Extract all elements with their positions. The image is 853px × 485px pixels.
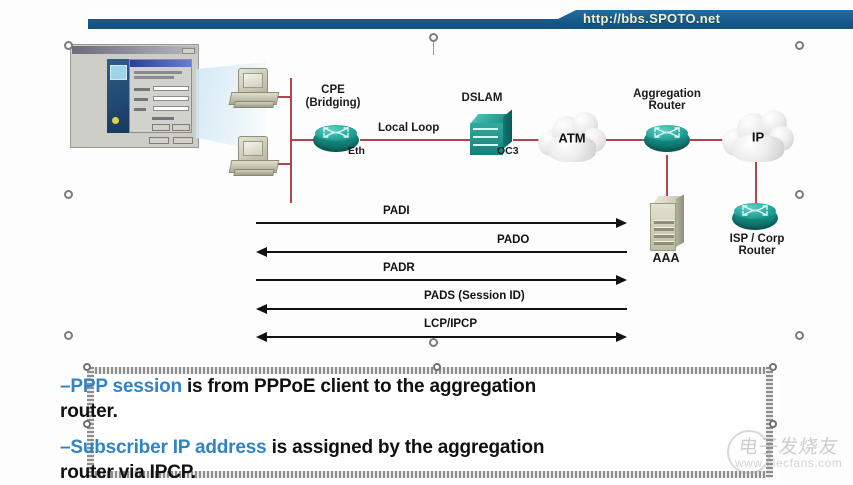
atm-label: ATM (538, 131, 606, 146)
agg-label-line2: Router (613, 100, 721, 113)
link-ip-isp (755, 160, 757, 205)
link-atm-agg (600, 139, 645, 141)
flow-label-pado: PADO (497, 234, 529, 246)
textbox-handle-tl[interactable] (83, 363, 91, 371)
note-bullet-2-line1: –Subscriber IP address is assigned by th… (60, 435, 544, 460)
pc-base-shadow (233, 169, 274, 176)
flow-line-padr (256, 279, 616, 281)
monitor-icon (238, 136, 268, 162)
textbox-handle-mr[interactable] (769, 420, 777, 428)
eth-label: Eth (348, 145, 365, 157)
dslam-label: DSLAM (432, 92, 532, 105)
selection-handle-mid-left[interactable] (64, 190, 73, 199)
dialup-dialog-screenshot (70, 44, 199, 148)
selection-handle-top-left[interactable] (64, 41, 73, 50)
dialog-side-graphic (107, 59, 129, 133)
link-local-loop (360, 139, 474, 141)
header-banner: http://bbs.SPOTO.net (88, 10, 853, 29)
connect-dialog (129, 59, 192, 133)
selection-handle-bottom-right[interactable] (795, 331, 804, 340)
aaa-label: AAA (630, 252, 702, 265)
flow-line-pado (267, 251, 627, 253)
selection-handle-top-right[interactable] (795, 41, 804, 50)
note-2-rest: is assigned by the aggregation (266, 437, 544, 458)
oc3-label: OC3 (497, 145, 519, 157)
globe-icon (112, 117, 119, 124)
flow-label-padr: PADR (383, 262, 415, 274)
note-1-highlight: PPP session (70, 376, 182, 397)
textbox-handle-tr[interactable] (769, 363, 777, 371)
textbox-border-top (87, 367, 773, 374)
dialog-titlebar (72, 46, 197, 54)
arrowhead-left-pado (256, 247, 267, 257)
banner-url: http://bbs.SPOTO.net (583, 11, 720, 26)
pc-workstation-top (228, 68, 280, 112)
computer-icon (110, 65, 127, 80)
note-bullet-1-line1: –PPP session is from PPPoE client to the… (60, 374, 536, 399)
local-loop-label: Local Loop (378, 122, 439, 134)
cpe-label-line1: CPE (288, 84, 378, 97)
arrowhead-right-padr (616, 275, 627, 285)
agg-label-line1: Aggregation (613, 88, 721, 101)
flow-label-padi: PADI (383, 205, 410, 217)
note-2-dash: – (60, 437, 70, 458)
pc-workstation-bottom (228, 136, 280, 180)
note-1-rest: is from PPPoE client to the aggregation (182, 376, 536, 397)
arrowhead-right-padi (616, 218, 627, 228)
selection-handle-bottom-left[interactable] (64, 331, 73, 340)
slide-canvas: http://bbs.SPOTO.net (0, 0, 853, 482)
selection-handle-mid-right[interactable] (795, 190, 804, 199)
monitor-icon (238, 68, 268, 94)
aggregation-router-icon (644, 124, 690, 154)
flow-line-pads (267, 308, 627, 310)
pc-base-shadow (233, 101, 274, 108)
note-bullet-2-line2: router via IPCP. (60, 460, 196, 485)
connect-dialog-titlebar (130, 60, 191, 67)
note-2-highlight: Subscriber IP address (70, 437, 266, 458)
atm-cloud-icon: ATM (538, 112, 606, 164)
isp-router-icon (732, 202, 778, 232)
ip-label: IP (722, 130, 794, 145)
arrowhead-right-lcpipcp (616, 332, 627, 342)
arrowhead-left-pads (256, 304, 267, 314)
flow-label-lcpipcp: LCP/IPCP (424, 318, 477, 330)
textbox-handle-ml[interactable] (83, 420, 91, 428)
isp-label-line1: ISP / Corp (714, 233, 800, 246)
ip-cloud-icon: IP (722, 110, 794, 164)
arrowhead-left-lcpipcp (256, 332, 267, 342)
cpe-label-line2: (Bridging) (288, 97, 378, 110)
flow-label-pads: PADS (Session ID) (424, 290, 525, 302)
flow-line-padi (256, 222, 616, 224)
selection-handle-rotate[interactable] (429, 33, 438, 42)
isp-label-line2: Router (714, 245, 800, 258)
aaa-server-icon (650, 196, 684, 252)
banner-notch (88, 10, 558, 19)
textbox-handle-tc[interactable] (433, 363, 441, 371)
close-icon (182, 48, 195, 54)
selection-handle-bottom-center[interactable] (429, 338, 438, 347)
flow-line-lcpipcp (267, 336, 616, 338)
note-1-dash: – (60, 376, 70, 397)
